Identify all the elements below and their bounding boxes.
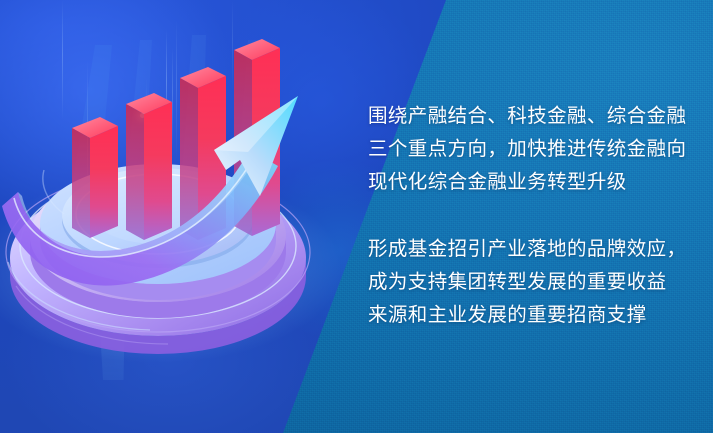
paragraph-1-line-2: 三个重点方向，加快推进传统金融向 [368, 133, 688, 166]
growth-chart-illustration [0, 0, 340, 380]
bar-1 [72, 117, 118, 238]
paragraph-1-line-3: 现代化综合金融业务转型升级 [368, 166, 688, 199]
paragraph-2-line-2: 成为支持集团转型发展的重要收益 [368, 266, 688, 299]
paragraph-2-line-3: 来源和主业发展的重要招商支撑 [368, 299, 688, 332]
bar-2 [126, 93, 172, 240]
copy-block: 围绕产融结合、科技金融、综合金融 三个重点方向，加快推进传统金融向 现代化综合金… [368, 100, 688, 332]
paragraph-1-line-1: 围绕产融结合、科技金融、综合金融 [368, 100, 688, 133]
banner: 围绕产融结合、科技金融、综合金融 三个重点方向，加快推进传统金融向 现代化综合金… [0, 0, 713, 433]
paragraph-1: 围绕产融结合、科技金融、综合金融 三个重点方向，加快推进传统金融向 现代化综合金… [368, 100, 688, 199]
paragraph-2-line-1: 形成基金招引产业落地的品牌效应， [368, 233, 688, 266]
paragraph-2: 形成基金招引产业落地的品牌效应， 成为支持集团转型发展的重要收益 来源和主业发展… [368, 233, 688, 332]
